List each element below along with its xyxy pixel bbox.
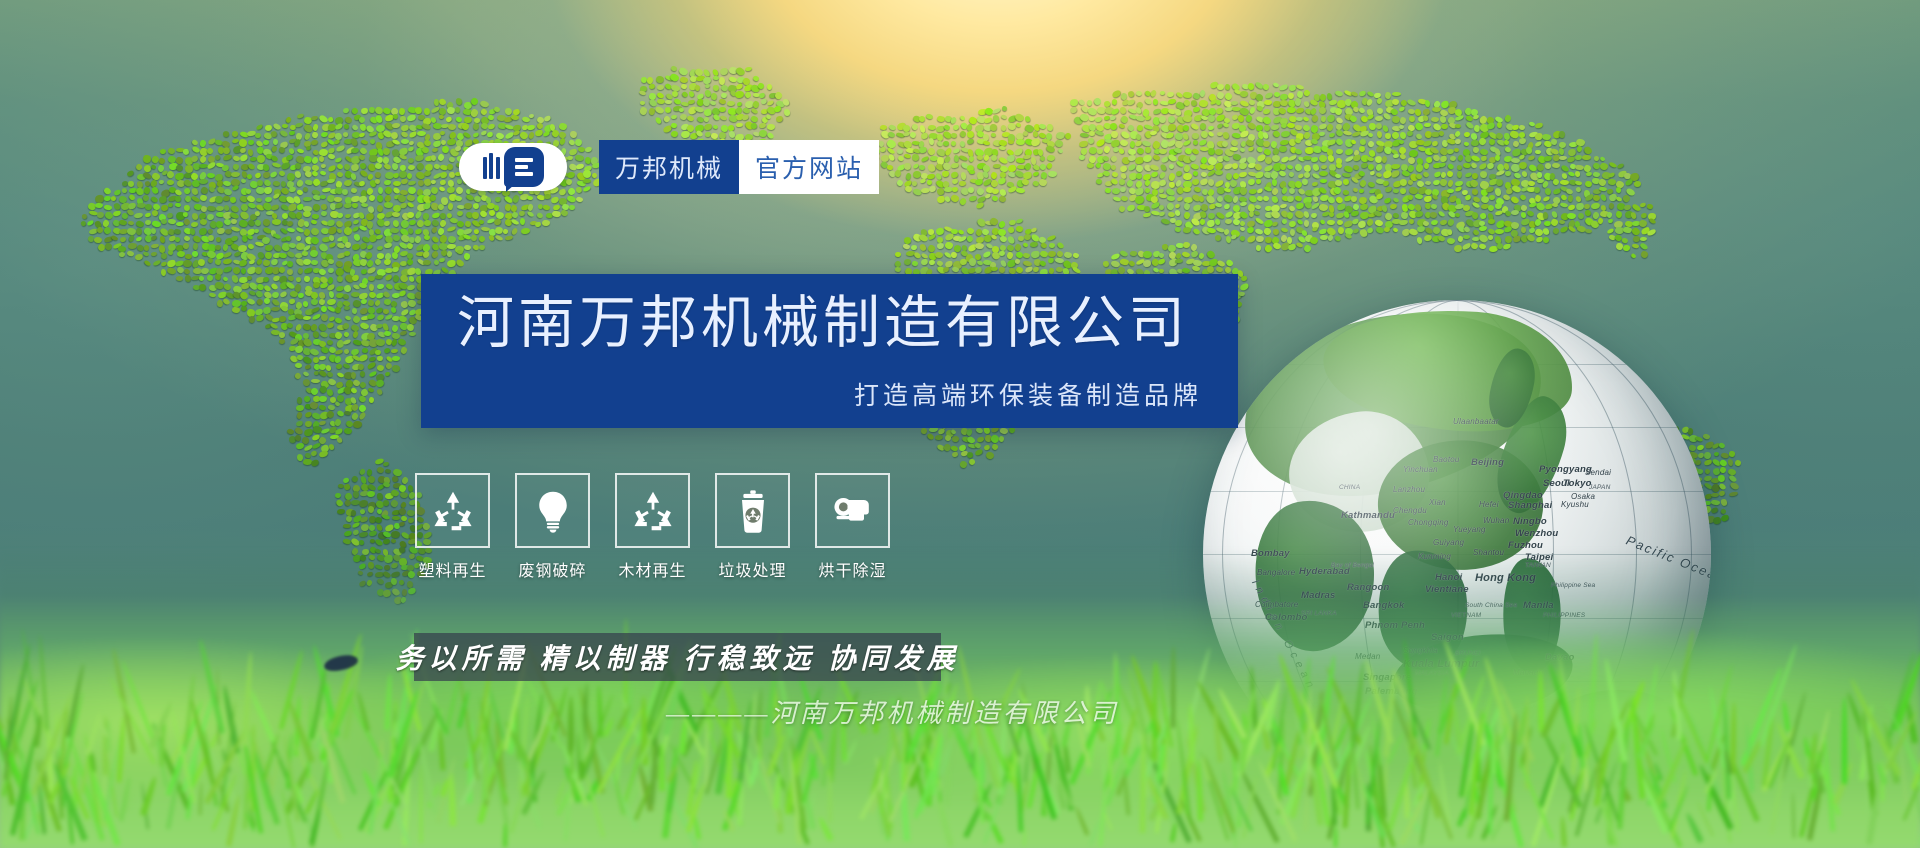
- company-name-title: 河南万邦机械制造有限公司: [457, 290, 1189, 357]
- slogan-text: 务以所需 精以制器 行稳致远 协同发展: [396, 637, 960, 677]
- site-nav: 万邦机械 官方网站: [599, 140, 879, 194]
- service-item[interactable]: 木材再生: [617, 473, 688, 581]
- company-tagline: 打造高端环保装备制造品牌: [854, 376, 1202, 412]
- service-label: 烘干除湿: [818, 557, 886, 581]
- recycle-icon[interactable]: [615, 473, 690, 548]
- company-title-banner: 河南万邦机械制造有限公司 打造高端环保装备制造品牌: [421, 274, 1238, 428]
- lightbulb-icon[interactable]: [515, 473, 590, 548]
- grass-blades: [0, 628, 1920, 848]
- service-item[interactable]: 垃圾处理: [717, 473, 788, 581]
- speech-bubble-logo-icon: [504, 147, 544, 187]
- service-label: 木材再生: [618, 557, 686, 581]
- service-icon-row: 塑料再生 废钢破碎 木材再生 垃圾处理 烘干除湿: [417, 473, 888, 581]
- service-label: 塑料再生: [418, 557, 486, 581]
- hero-banner-stage: UlaanbaatarBeijingBaotouYinchuanLanzhouX…: [0, 0, 1920, 848]
- dryer-blower-icon[interactable]: [815, 473, 890, 548]
- service-item[interactable]: 塑料再生: [417, 473, 488, 581]
- service-label: 垃圾处理: [718, 557, 786, 581]
- service-label: 废钢破碎: [518, 557, 586, 581]
- top-brand-bar: 万邦机械 官方网站: [459, 140, 879, 194]
- nav-tab-official-site[interactable]: 官方网站: [739, 140, 879, 194]
- service-item[interactable]: 烘干除湿: [817, 473, 888, 581]
- logo-b-bars-icon: [515, 158, 533, 176]
- wanbang-logo[interactable]: [459, 143, 567, 191]
- slogan-bar: 务以所需 精以制器 行稳致远 协同发展: [414, 633, 941, 681]
- logo-w-icon: [483, 153, 500, 181]
- service-item[interactable]: 废钢破碎: [517, 473, 588, 581]
- slogan-attribution: ————河南万邦机械制造有限公司: [666, 693, 1118, 730]
- nav-tab-brand[interactable]: 万邦机械: [599, 140, 739, 194]
- trash-bin-icon[interactable]: [715, 473, 790, 548]
- recycle-icon[interactable]: [415, 473, 490, 548]
